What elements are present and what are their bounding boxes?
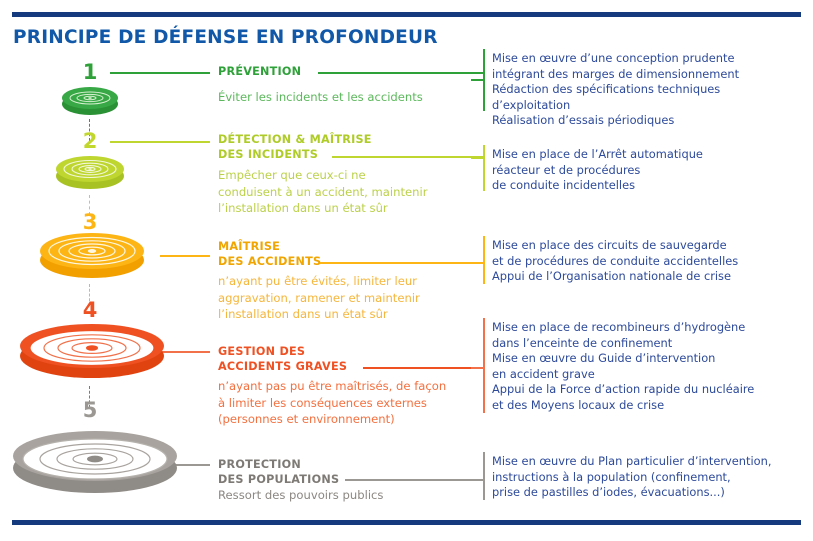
level-2-connector-line: [110, 141, 210, 143]
level-3-right-stub: [471, 262, 483, 264]
level-3-heading: MAÎTRISE DES ACCIDENTS: [218, 240, 321, 269]
level-2-right-bar: [483, 145, 485, 191]
level-5-right-stub: [471, 479, 483, 481]
level-5-heading: PROTECTION DES POPULATIONS: [218, 458, 339, 487]
level-3-connector-line: [160, 255, 210, 257]
level-5-subtitle: Ressort des pouvoirs publics: [218, 487, 473, 504]
disc-level-2: [50, 152, 130, 194]
level-1-measures: Mise en œuvre d’une conception prudente …: [492, 51, 810, 129]
level-1-connector-line: [110, 72, 210, 74]
level-5-number: 5: [60, 400, 120, 421]
bottom-rule: [12, 520, 801, 525]
level-2-right-stub: [471, 157, 483, 159]
level-4-measures: Mise en place de recombineurs d’hydrogèn…: [492, 320, 812, 414]
disc-level-5: [5, 424, 185, 500]
disc-level-4: [12, 318, 172, 384]
level-4-heading-line: [363, 367, 483, 369]
disc-level-1: [56, 84, 124, 118]
page-title: PRINCIPE DE DÉFENSE EN PROFONDEUR: [13, 27, 438, 48]
level-1-subtitle: Éviter les incidents et les accidents: [218, 89, 468, 106]
level-5-heading-line: [345, 479, 483, 481]
level-2-heading: DÉTECTION & MAÎTRISE DES INCIDENTS: [218, 133, 372, 162]
level-2-subtitle: Empêcher que ceux-ci ne conduisent à un …: [218, 167, 468, 217]
level-5-right-bar: [483, 452, 485, 500]
level-3-measures: Mise en place des circuits de sauvegarde…: [492, 238, 810, 285]
level-3-right-bar: [483, 236, 485, 284]
disc-level-3: [34, 228, 150, 284]
level-4-subtitle: n’ayant pas pu être maîtrisés, de façon …: [218, 378, 480, 428]
level-3-heading-line: [320, 262, 483, 264]
level-4-right-stub: [471, 367, 483, 369]
level-5-measures: Mise en œuvre du Plan particulier d’inte…: [492, 454, 812, 501]
top-rule: [12, 12, 801, 17]
level-4-right-bar: [483, 318, 485, 413]
level-1-right-stub: [471, 79, 483, 81]
infographic-canvas: PRINCIPE DE DÉFENSE EN PROFONDEUR 1 PRÉV…: [0, 0, 813, 541]
level-4-heading: GESTION DES ACCIDENTS GRAVES: [218, 345, 347, 374]
level-2-heading-line: [332, 156, 483, 158]
level-1-heading-line: [318, 72, 483, 74]
level-1-heading: PRÉVENTION: [218, 65, 301, 80]
level-1-right-bar: [483, 49, 485, 111]
level-3-subtitle: n’ayant pu être évités, limiter leur agg…: [218, 273, 473, 323]
level-2-measures: Mise en place de l’Arrêt automatique réa…: [492, 147, 810, 194]
